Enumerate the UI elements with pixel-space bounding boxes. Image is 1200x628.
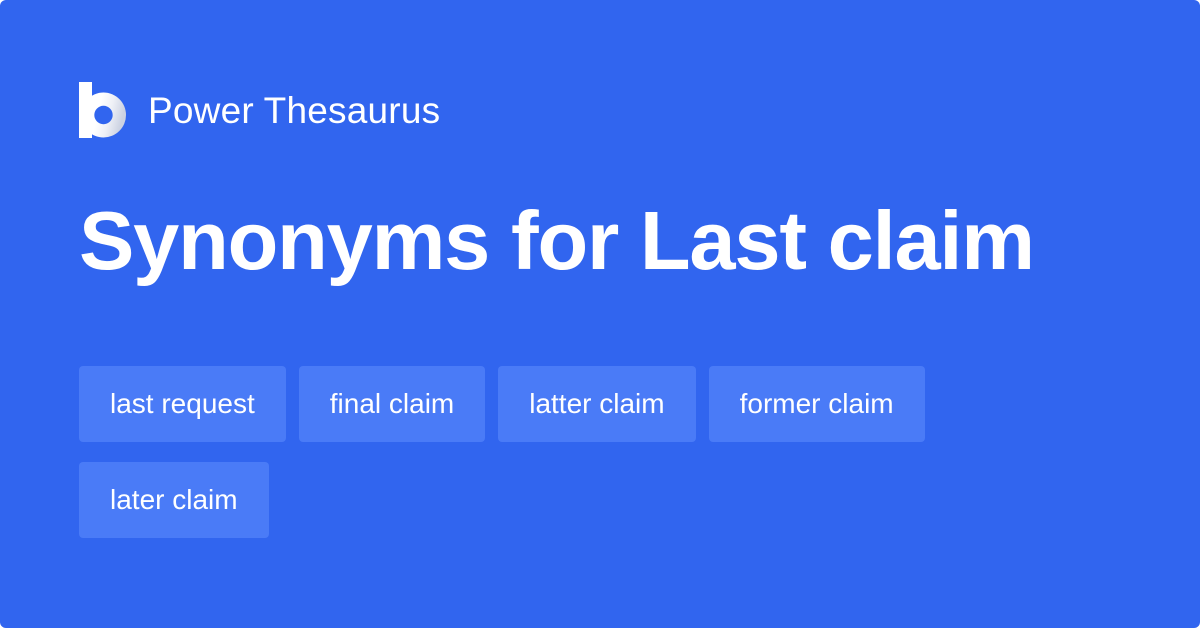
synonym-chip[interactable]: former claim xyxy=(709,366,925,442)
synonym-chip[interactable]: final claim xyxy=(299,366,485,442)
power-thesaurus-b-logo-icon xyxy=(79,82,126,138)
synonym-chip-list: last request final claim latter claim fo… xyxy=(79,366,1121,538)
synonym-chip[interactable]: last request xyxy=(79,366,286,442)
page-title: Synonyms for Last claim xyxy=(79,196,1139,286)
synonym-chip[interactable]: latter claim xyxy=(498,366,695,442)
share-card: Power Thesaurus Synonyms for Last claim … xyxy=(0,0,1200,628)
synonym-chip[interactable]: later claim xyxy=(79,462,269,538)
brand-lockup[interactable]: Power Thesaurus xyxy=(79,82,440,138)
brand-name: Power Thesaurus xyxy=(148,92,440,129)
